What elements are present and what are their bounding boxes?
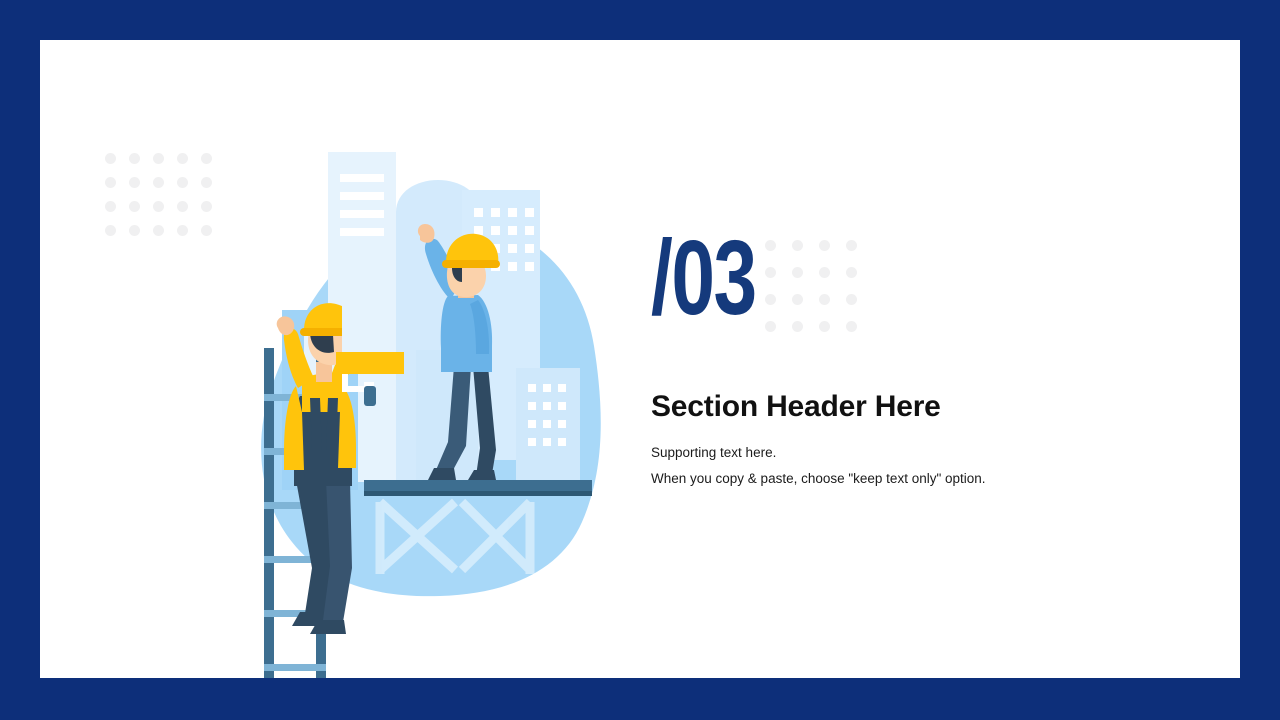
supporting-text: Supporting text here. When you copy & pa… [651,424,1171,493]
dot [177,153,188,164]
dot [153,153,164,164]
dot [177,177,188,188]
page-title: Section Header Here [651,328,1171,424]
supporting-line-1: Supporting text here. [651,440,1171,467]
dot [105,177,116,188]
section-number: /03 [651,230,1036,328]
dot [153,225,164,236]
dot [105,225,116,236]
supporting-line-2: When you copy & paste, choose "keep text… [651,466,1171,493]
dot [129,177,140,188]
dot [201,153,212,164]
dot [201,225,212,236]
dot [129,225,140,236]
scaffold-platform [364,480,592,491]
slide-root: /03 Section Header Here Supporting text … [0,0,1280,720]
content-panel: /03 Section Header Here Supporting text … [40,40,1240,678]
dot-grid-left [105,153,225,249]
construction-workers-illustration [230,150,650,678]
dot [105,201,116,212]
dot [129,153,140,164]
dot [201,201,212,212]
dot [153,201,164,212]
dot [105,153,116,164]
dot [153,177,164,188]
dot [177,225,188,236]
dot [129,201,140,212]
dot [201,177,212,188]
text-column: /03 Section Header Here Supporting text … [651,230,1171,493]
dot [177,201,188,212]
